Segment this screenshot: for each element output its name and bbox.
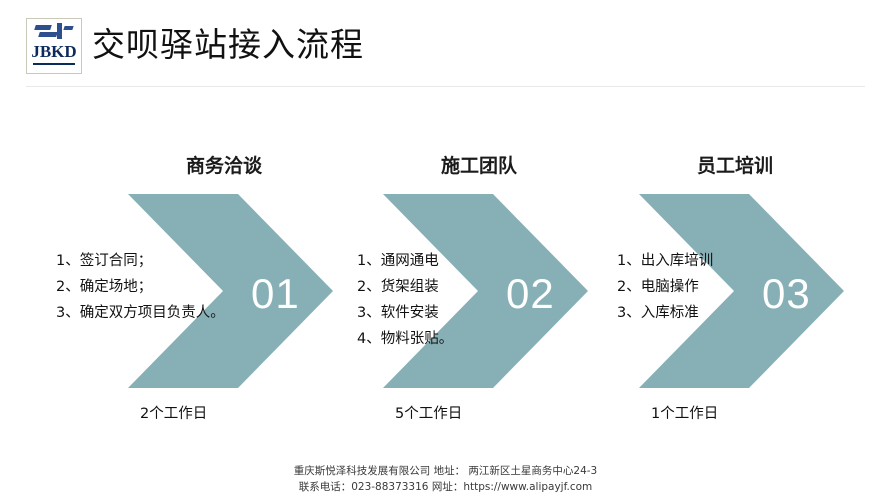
stage-2-item-2: 2、货架组装: [357, 274, 453, 300]
stage-2-number: 02: [506, 270, 555, 318]
stage-1-item-2: 2、确定场地；: [56, 274, 225, 300]
stage-2-items: 1、通网通电 2、货架组装 3、软件安装 4、物料张贴。: [357, 248, 453, 352]
stage-1-item-1: 1、签订合同；: [56, 248, 225, 274]
stage-2-footer: 5个工作日: [395, 402, 462, 423]
page-footer: 重庆斯悦泽科技发展有限公司 地址： 两江新区土星商务中心24-3 联系电话：02…: [0, 463, 891, 495]
stage-1-items: 1、签订合同； 2、确定场地； 3、确定双方项目负责人。: [56, 248, 225, 326]
footer-line-1: 重庆斯悦泽科技发展有限公司 地址： 两江新区土星商务中心24-3: [0, 463, 891, 479]
stage-1-item-3: 3、确定双方项目负责人。: [56, 300, 225, 326]
stage-1-title: 商务洽谈: [124, 151, 324, 178]
stage-2: 施工团队 02 1、通网通电 2、货架组装 3、软件安装 4、物料张贴。 5个工…: [373, 186, 613, 396]
stage-2-item-3: 3、软件安装: [357, 300, 453, 326]
logo-text: JBKD: [27, 42, 81, 62]
stage-3-title: 员工培训: [635, 151, 835, 178]
company-logo: JBKD: [26, 18, 82, 74]
stage-3-item-3: 3、入库标准: [617, 300, 713, 326]
stage-1: 商务洽谈 01 1、签订合同； 2、确定场地； 3、确定双方项目负责人。 2个工…: [118, 186, 358, 396]
stage-3-items: 1、出入库培训 2、电脑操作 3、入库标准: [617, 248, 713, 326]
stage-2-item-4: 4、物料张贴。: [357, 326, 453, 352]
stage-1-number: 01: [251, 270, 300, 318]
stage-1-footer: 2个工作日: [140, 402, 207, 423]
stage-3-number: 03: [762, 270, 811, 318]
stage-3-item-1: 1、出入库培训: [617, 248, 713, 274]
stage-3-item-2: 2、电脑操作: [617, 274, 713, 300]
stage-2-item-1: 1、通网通电: [357, 248, 453, 274]
header-divider: [26, 86, 865, 87]
stage-3-footer: 1个工作日: [651, 402, 718, 423]
page-header: JBKD 交呗驿站接入流程: [0, 0, 891, 92]
footer-line-2: 联系电话：023-88373316 网址：https://www.alipayj…: [0, 479, 891, 495]
page-title: 交呗驿站接入流程: [92, 18, 364, 66]
logo-underline: [33, 63, 75, 65]
logo-graphic: [27, 19, 81, 41]
stage-3: 员工培训 03 1、出入库培训 2、电脑操作 3、入库标准 1个工作日: [629, 186, 869, 396]
stage-2-title: 施工团队: [379, 151, 579, 178]
flag-mark-icon: [35, 23, 73, 39]
